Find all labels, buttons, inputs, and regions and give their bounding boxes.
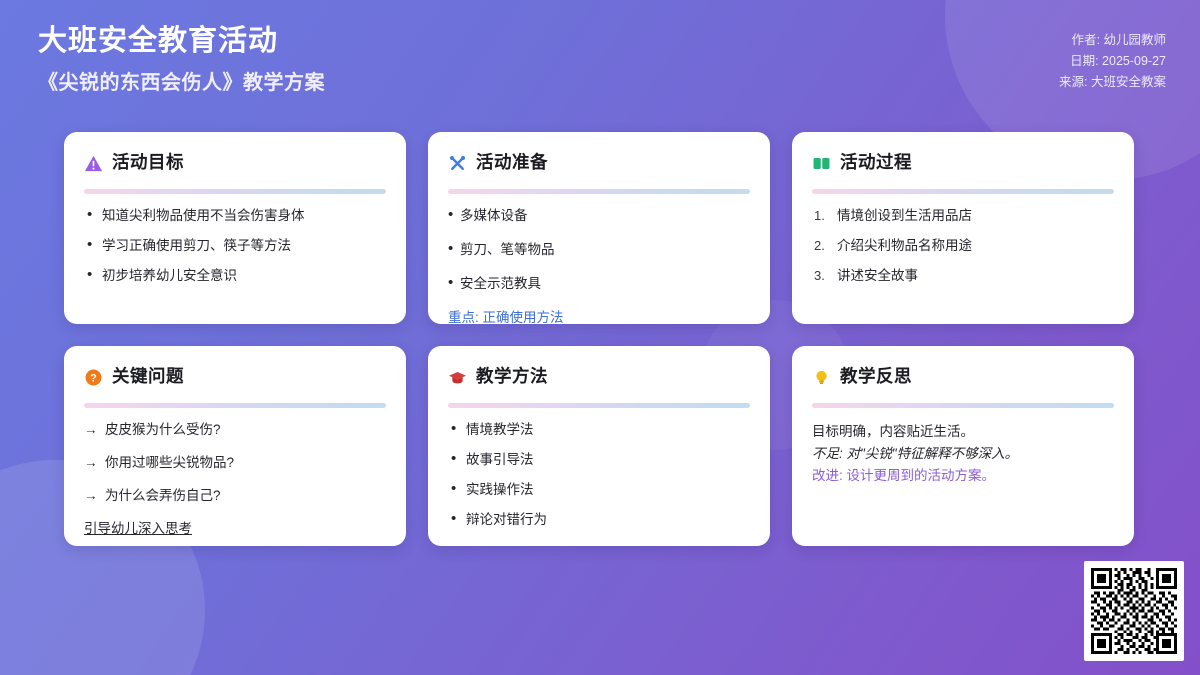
- list-item: 故事引导法: [448, 451, 750, 468]
- card-header: 教学反思: [812, 364, 1114, 390]
- list-item: 你用过哪些尖锐物品?: [84, 454, 386, 471]
- card-key-questions: ? 关键问题 皮皮猴为什么受伤? 你用过哪些尖锐物品? 为什么会弄伤自己? 引导…: [64, 346, 406, 546]
- card-divider: [812, 403, 1114, 408]
- card-divider: [812, 189, 1114, 194]
- list-item-label: 讲述安全故事: [837, 268, 918, 283]
- header-meta: 作者: 幼儿园教师 日期: 2025-09-27 来源: 大班安全教案: [1059, 26, 1166, 93]
- open-book-icon: [812, 154, 831, 173]
- list-item: 皮皮猴为什么受伤?: [84, 421, 386, 438]
- card-body: 1.情境创设到生活用品店 2.介绍尖利物品名称用途 3.讲述安全故事: [812, 207, 1114, 284]
- card-body: 目标明确，内容贴近生活。 不足: 对"尖锐"特征解释不够深入。 改进: 设计更周…: [812, 421, 1114, 487]
- list-item-label: 介绍尖利物品名称用途: [837, 238, 972, 253]
- graduation-cap-icon: [448, 368, 467, 387]
- qr-code[interactable]: [1084, 561, 1184, 661]
- card-teaching-methods: 教学方法 情境教学法 故事引导法 实践操作法 辩论对错行为: [428, 346, 770, 546]
- list-item: 学习正确使用剪刀、筷子等方法: [84, 237, 386, 254]
- card-footer-note: 重点: 正确使用方法: [448, 309, 750, 324]
- preparation-list: 多媒体设备 剪刀、笔等物品 安全示范教具: [448, 207, 750, 292]
- card-footer-note: 引导幼儿深入思考: [84, 520, 386, 538]
- card-title: 活动目标: [112, 154, 184, 172]
- card-activity-goals: 活动目标 知道尖利物品使用不当会伤害身体 学习正确使用剪刀、筷子等方法 初步培养…: [64, 132, 406, 324]
- lightbulb-icon: [812, 368, 831, 387]
- card-title: 活动过程: [840, 154, 912, 172]
- goals-list: 知道尖利物品使用不当会伤害身体 学习正确使用剪刀、筷子等方法 初步培养幼儿安全意…: [84, 207, 386, 284]
- card-body: 皮皮猴为什么受伤? 你用过哪些尖锐物品? 为什么会弄伤自己? 引导幼儿深入思考: [84, 421, 386, 538]
- list-item: 知道尖利物品使用不当会伤害身体: [84, 207, 386, 224]
- card-header: 教学方法: [448, 364, 750, 390]
- list-item: 辩论对错行为: [448, 511, 750, 528]
- card-header: ? 关键问题: [84, 364, 386, 390]
- list-item: 多媒体设备: [448, 207, 750, 224]
- reflection-line: 目标明确，内容贴近生活。: [812, 421, 1114, 443]
- qr-code-image: [1091, 568, 1177, 654]
- card-activity-preparation: 活动准备 多媒体设备 剪刀、笔等物品 安全示范教具 重点: 正确使用方法: [428, 132, 770, 324]
- question-circle-icon: ?: [84, 368, 103, 387]
- page-title: 大班安全教育活动: [38, 26, 325, 58]
- card-divider: [448, 403, 750, 408]
- list-item: 情境教学法: [448, 421, 750, 438]
- title-group: 大班安全教育活动 《尖锐的东西会伤人》教学方案: [38, 26, 325, 95]
- questions-list: 皮皮猴为什么受伤? 你用过哪些尖锐物品? 为什么会弄伤自己?: [84, 421, 386, 504]
- card-title: 关键问题: [112, 368, 184, 386]
- list-item: 实践操作法: [448, 481, 750, 498]
- list-item: 2.介绍尖利物品名称用途: [812, 237, 1114, 254]
- card-title: 活动准备: [476, 154, 548, 172]
- list-number: 3.: [814, 267, 825, 284]
- meta-source: 来源: 大班安全教案: [1059, 72, 1166, 93]
- card-teaching-reflection: 教学反思 目标明确，内容贴近生活。 不足: 对"尖锐"特征解释不够深入。 改进:…: [792, 346, 1134, 546]
- list-number: 2.: [814, 237, 825, 254]
- page-subtitle: 《尖锐的东西会伤人》教学方案: [38, 71, 325, 95]
- card-header: 活动准备: [448, 150, 750, 176]
- slide: 大班安全教育活动 《尖锐的东西会伤人》教学方案 作者: 幼儿园教师 日期: 20…: [0, 0, 1200, 675]
- card-grid: 活动目标 知道尖利物品使用不当会伤害身体 学习正确使用剪刀、筷子等方法 初步培养…: [64, 132, 1136, 546]
- card-divider: [84, 189, 386, 194]
- reflection-line-shortcoming: 不足: 对"尖锐"特征解释不够深入。: [812, 443, 1114, 465]
- list-item: 为什么会弄伤自己?: [84, 487, 386, 504]
- methods-list: 情境教学法 故事引导法 实践操作法 辩论对错行为: [448, 421, 750, 528]
- card-divider: [84, 403, 386, 408]
- card-title: 教学方法: [476, 368, 548, 386]
- slide-header: 大班安全教育活动 《尖锐的东西会伤人》教学方案 作者: 幼儿园教师 日期: 20…: [0, 0, 1200, 120]
- card-activity-process: 活动过程 1.情境创设到生活用品店 2.介绍尖利物品名称用途 3.讲述安全故事: [792, 132, 1134, 324]
- list-item: 1.情境创设到生活用品店: [812, 207, 1114, 224]
- card-body: 情境教学法 故事引导法 实践操作法 辩论对错行为: [448, 421, 750, 528]
- list-item-label: 情境创设到生活用品店: [837, 208, 972, 223]
- card-header: 活动过程: [812, 150, 1114, 176]
- warning-triangle-icon: [84, 154, 103, 173]
- list-number: 1.: [814, 207, 825, 224]
- meta-date: 日期: 2025-09-27: [1059, 51, 1166, 72]
- card-divider: [448, 189, 750, 194]
- list-item: 初步培养幼儿安全意识: [84, 267, 386, 284]
- list-item: 安全示范教具: [448, 275, 750, 292]
- card-body: 知道尖利物品使用不当会伤害身体 学习正确使用剪刀、筷子等方法 初步培养幼儿安全意…: [84, 207, 386, 284]
- card-header: 活动目标: [84, 150, 386, 176]
- meta-author: 作者: 幼儿园教师: [1059, 30, 1166, 51]
- list-item: 剪刀、笔等物品: [448, 241, 750, 258]
- list-item: 3.讲述安全故事: [812, 267, 1114, 284]
- card-title: 教学反思: [840, 368, 912, 386]
- card-body: 多媒体设备 剪刀、笔等物品 安全示范教具 重点: 正确使用方法: [448, 207, 750, 324]
- reflection-line-improvement: 改进: 设计更周到的活动方案。: [812, 465, 1114, 487]
- tools-icon: [448, 154, 467, 173]
- process-list: 1.情境创设到生活用品店 2.介绍尖利物品名称用途 3.讲述安全故事: [812, 207, 1114, 284]
- svg-text:?: ?: [90, 372, 97, 384]
